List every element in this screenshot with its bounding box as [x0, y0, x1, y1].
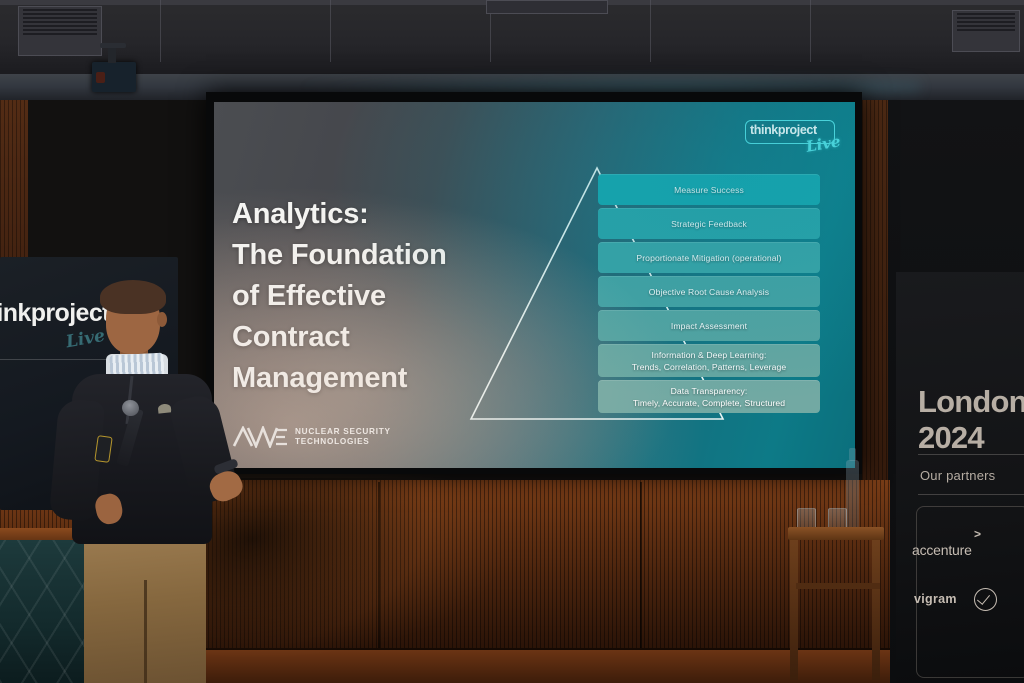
layer-label: Data Transparency: — [671, 386, 748, 396]
title-line: of Effective — [232, 276, 502, 317]
sweater-logo-icon — [158, 403, 172, 413]
title-line: The Foundation — [232, 235, 502, 276]
side-table-leg — [790, 540, 798, 680]
banner-right-title: London 2024 — [918, 384, 1024, 456]
panel-seam — [640, 482, 642, 648]
pyramid-layer: Measure Success — [598, 174, 820, 205]
banner-right-divider-bottom — [918, 494, 1024, 495]
speaker-ear — [157, 312, 167, 327]
ceiling-tile — [160, 0, 161, 62]
banner-right-partners-label: Our partners — [920, 468, 995, 483]
layer-label: Information & Deep Learning: — [651, 350, 766, 360]
awe-line-2: TECHNOLOGIES — [295, 437, 391, 448]
ceiling — [0, 0, 1024, 78]
layer-label: Measure Success — [674, 185, 744, 195]
banner-right-divider-top — [918, 454, 1024, 455]
layer-sublabel: Timely, Accurate, Complete, Structured — [633, 398, 785, 408]
water-bottle — [846, 460, 859, 528]
partner-logo-accenture: accenture — [912, 542, 972, 558]
pyramid-layer: Proportionate Mitigation (operational) — [598, 242, 820, 273]
accenture-arrow-icon: > — [974, 527, 981, 541]
air-vent-icon — [952, 10, 1020, 52]
ceiling-projector — [92, 62, 136, 92]
awe-logo-text: NUCLEAR SECURITY TECHNOLOGIES — [295, 427, 391, 448]
speaker-hair — [100, 280, 166, 314]
pyramid-layer: Objective Root Cause Analysis — [598, 276, 820, 307]
banner-right-title-line2: 2024 — [918, 420, 1024, 456]
side-table-top — [788, 527, 884, 540]
pyramid-layer: Data Transparency: Timely, Accurate, Com… — [598, 380, 820, 413]
layer-label: Objective Root Cause Analysis — [649, 287, 769, 297]
ceiling-tile — [810, 0, 811, 62]
page-title: Analytics: The Foundation of Effective C… — [232, 194, 502, 399]
awe-line-1: NUCLEAR SECURITY — [295, 427, 391, 438]
title-line: Contract — [232, 317, 502, 358]
partner-logo-vigram: vigram — [914, 592, 957, 606]
pyramid-layer-stack: Measure Success Strategic Feedback Propo… — [598, 174, 820, 416]
presentation-photo-scene: Analytics: The Foundation of Effective C… — [0, 0, 1024, 683]
trouser-seam — [144, 580, 147, 683]
ceiling-tile — [650, 0, 651, 62]
side-table-leg — [872, 540, 880, 680]
banner-right-title-line1: London — [918, 384, 1024, 420]
title-line: Management — [232, 358, 502, 399]
thinkproject-logo: thinkproject Live — [745, 117, 839, 157]
layer-label: Strategic Feedback — [671, 219, 747, 229]
logo-wordmark: thinkproject — [750, 123, 817, 137]
side-table-rail — [796, 583, 880, 589]
layer-label: Impact Assessment — [671, 321, 747, 331]
pyramid-layer: Strategic Feedback — [598, 208, 820, 239]
layer-sublabel: Trends, Correlation, Patterns, Leverage — [632, 362, 787, 372]
ceiling-tile — [330, 0, 331, 62]
projector-lens-icon — [96, 72, 105, 83]
air-vent-icon — [18, 6, 102, 56]
presentation-slide: Analytics: The Foundation of Effective C… — [214, 102, 855, 468]
layer-label: Proportionate Mitigation (operational) — [636, 253, 781, 263]
ceiling-light-strip — [486, 0, 608, 14]
banner-right: London 2024 Our partners > accenture vig… — [896, 272, 1024, 683]
pyramid-layer: Impact Assessment — [598, 310, 820, 341]
pyramid-layer: Information & Deep Learning: Trends, Cor… — [598, 344, 820, 377]
title-line: Analytics: — [232, 194, 502, 235]
vigram-check-badge-icon — [974, 588, 997, 611]
speaker-presenter — [40, 280, 270, 683]
